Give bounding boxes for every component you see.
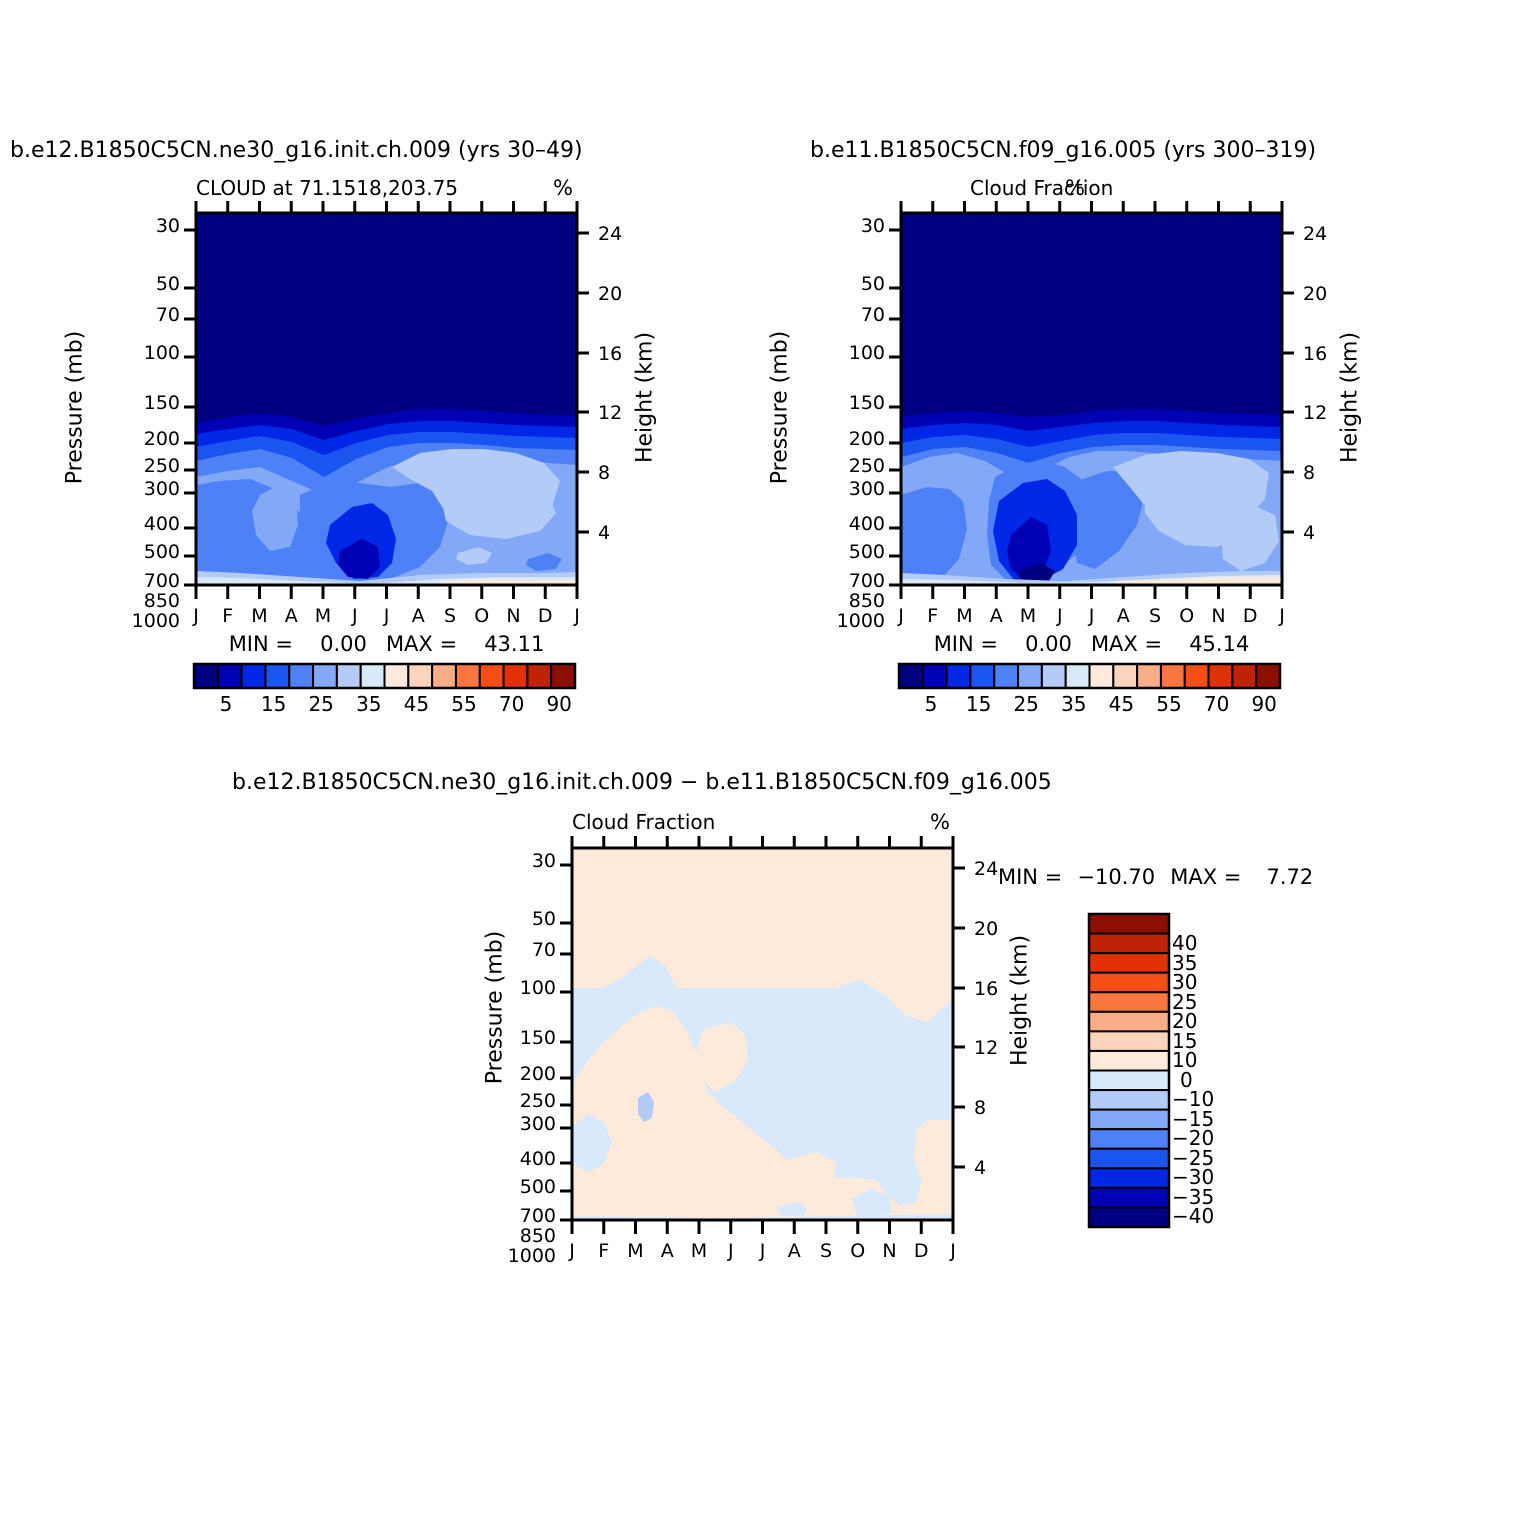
left-max-label: MAX = (386, 632, 457, 656)
colorbar-cell (1089, 1051, 1169, 1071)
colorbar-cell (1066, 664, 1090, 688)
panel-right: b.e11.B1850C5CN.f09_g16.005 (yrs 300–319… (755, 0, 1525, 740)
colorbar-cell (1089, 1207, 1169, 1227)
right-height-ticks (1282, 233, 1294, 532)
right-minmax: MIN = 0.00 MAX = 45.14 (901, 632, 1282, 656)
colorbar-cell (923, 664, 947, 688)
left-min-label: MIN = (229, 632, 293, 656)
colorbar-cell (337, 664, 361, 688)
colorbar-cell (1089, 1129, 1169, 1149)
right-contour-plot (845, 195, 1315, 615)
colorbar-cell (1089, 1071, 1169, 1091)
left-pressure-ticks (184, 230, 196, 585)
colorbar-cell (994, 664, 1018, 688)
left-min-value: 0.00 (320, 632, 367, 656)
colorbar-cell (408, 664, 432, 688)
colorbar-cell (1042, 664, 1066, 688)
diff-minmax: MIN = −10.70 MAX = 7.72 (998, 865, 1313, 889)
colorbar-cell (1018, 664, 1042, 688)
colorbar-cell (527, 664, 551, 688)
diff-min-label: MIN = (998, 865, 1062, 889)
panel-left: b.e12.B1850C5CN.ne30_g16.init.ch.009 (yr… (0, 0, 760, 740)
right-min-label: MIN = (934, 632, 998, 656)
colorbar-cell (1089, 914, 1169, 934)
colorbar-cell (1089, 992, 1169, 1012)
colorbar-cell (1089, 1031, 1169, 1051)
colorbar-cell (1089, 973, 1169, 993)
panel-difference: b.e12.B1850C5CN.ne30_g16.init.ch.009 − b… (0, 740, 1525, 1300)
left-minmax: MIN = 0.00 MAX = 43.11 (196, 632, 577, 656)
right-min-value: 0.00 (1025, 632, 1072, 656)
diff-max-label: MAX = (1170, 865, 1241, 889)
right-colorbar[interactable] (897, 662, 1297, 692)
colorbar-cell (899, 664, 923, 688)
diff-panel-title: b.e12.B1850C5CN.ne30_g16.init.ch.009 − b… (232, 770, 1052, 795)
colorbar-cell (265, 664, 289, 688)
right-pressure-axis-label: Pressure (mb) (690, 395, 870, 420)
colorbar-cell (1161, 664, 1185, 688)
colorbar-cell (1090, 664, 1114, 688)
colorbar-cell (1137, 664, 1161, 688)
colorbar-cell (1209, 664, 1233, 688)
colorbar-cell (970, 664, 994, 688)
colorbar-cell (1089, 1149, 1169, 1169)
right-max-label: MAX = (1091, 632, 1162, 656)
colorbar-cell (1185, 664, 1209, 688)
colorbar-cell (1232, 664, 1256, 688)
colorbar-cell (947, 664, 971, 688)
colorbar-cell (194, 664, 218, 688)
diff-min-value: −10.70 (1077, 865, 1155, 889)
colorbar-cell (1089, 1188, 1169, 1208)
left-panel-title: b.e12.B1850C5CN.ne30_g16.init.ch.009 (yr… (10, 138, 583, 163)
colorbar-cell (456, 664, 480, 688)
colorbar-cell (1089, 1090, 1169, 1110)
colorbar-cell (1089, 1168, 1169, 1188)
diff-height-ticks (953, 868, 965, 1167)
colorbar-cell (385, 664, 409, 688)
right-max-value: 45.14 (1189, 632, 1249, 656)
diff-pressure-ticks (560, 865, 572, 1220)
colorbar-cell (1113, 664, 1137, 688)
right-panel-title: b.e11.B1850C5CN.f09_g16.005 (yrs 300–319… (810, 138, 1316, 163)
diff-max-value: 7.72 (1266, 865, 1313, 889)
colorbar-cell (432, 664, 456, 688)
colorbar-cell (551, 664, 575, 688)
colorbar-cell (1089, 934, 1169, 954)
colorbar-cell (480, 664, 504, 688)
left-contour-plot (140, 195, 610, 615)
colorbar-cell (1256, 664, 1280, 688)
right-pressure-ticks (889, 230, 901, 585)
colorbar-cell (313, 664, 337, 688)
colorbar-cell (289, 664, 313, 688)
left-height-ticks (577, 233, 589, 532)
colorbar-cell (1089, 953, 1169, 973)
colorbar-cell (504, 664, 528, 688)
colorbar-cell (361, 664, 385, 688)
left-colorbar[interactable] (192, 662, 592, 692)
colorbar-cell (218, 664, 242, 688)
left-max-value: 43.11 (484, 632, 544, 656)
colorbar-cell (242, 664, 266, 688)
colorbar-cell (1089, 1110, 1169, 1130)
diff-contour-plot (516, 830, 986, 1250)
colorbar-cell (1089, 1012, 1169, 1032)
